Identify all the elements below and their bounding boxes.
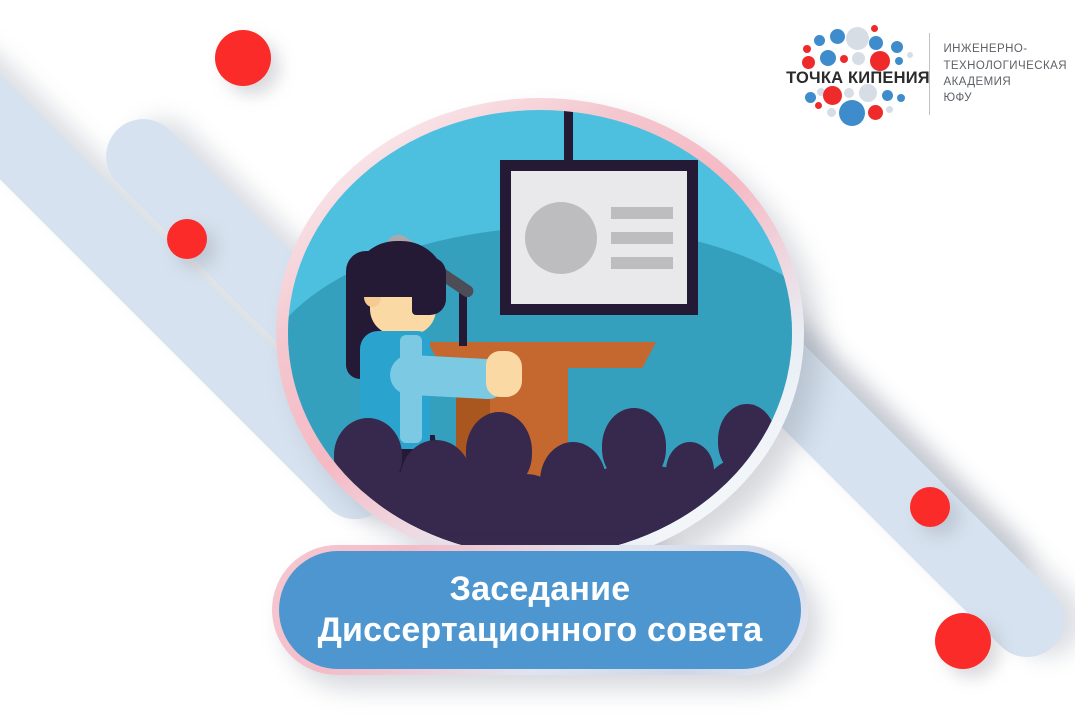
screen-mount-rod: [564, 110, 573, 166]
red-dot: [167, 219, 207, 259]
logo-bubble: [820, 50, 836, 66]
red-dot: [910, 487, 950, 527]
logo-bubble: [871, 25, 878, 32]
logo-org-name: ИНЖЕНЕРНО- ТЕХНОЛОГИЧЕСКАЯ АКАДЕМИЯ ЮФУ: [943, 41, 1067, 106]
logo-bubble: [882, 90, 893, 101]
logo-org-line: ИНЖЕНЕРНО-: [943, 41, 1067, 57]
logo-mark: ТОЧКА КИПЕНИЯ: [783, 22, 923, 126]
page-title: Заседание Диссертационного совета: [292, 569, 789, 652]
logo-bubble: [830, 29, 845, 44]
logo-bubble: [897, 94, 905, 102]
screen-line: [611, 257, 673, 269]
logo-org-line: ЮФУ: [943, 90, 1067, 106]
illustration-scene: [288, 110, 792, 556]
logo-bubble: [907, 52, 913, 58]
screen-placeholder-lines: [611, 207, 673, 269]
brand-logo: ТОЧКА КИПЕНИЯ ИНЖЕНЕРНО- ТЕХНОЛОГИЧЕСКАЯ…: [783, 22, 1067, 126]
red-dot: [935, 613, 991, 669]
logo-bubble: [852, 52, 865, 65]
logo-bubble: [827, 108, 836, 117]
logo-wordmark: ТОЧКА КИПЕНИЯ: [783, 69, 933, 88]
logo-bubble: [803, 45, 811, 53]
screen-line: [611, 207, 673, 219]
logo-bubble: [868, 105, 883, 120]
speaker-hair-side: [412, 257, 446, 315]
logo-bubble: [815, 102, 822, 109]
audience-silhouettes: [288, 398, 792, 556]
title-pill: Заседание Диссертационного совета: [279, 551, 801, 669]
logo-bubble: [886, 106, 893, 113]
logo-bubble: [805, 92, 816, 103]
logo-bubble: [814, 35, 825, 46]
logo-bubble: [823, 86, 842, 105]
logo-bubble: [846, 27, 869, 50]
logo-org-line: АКАДЕМИЯ: [943, 74, 1067, 90]
poster-canvas: Заседание Диссертационного совета ТОЧКА …: [0, 0, 1075, 720]
logo-bubble: [839, 100, 865, 126]
logo-bubble: [895, 57, 903, 65]
logo-bubble: [891, 41, 903, 53]
logo-bubble: [840, 55, 848, 63]
speaker-hand: [486, 351, 522, 397]
logo-bubble: [869, 36, 883, 50]
red-dot: [215, 30, 271, 86]
illustration-circle: [276, 98, 804, 568]
title-line-2: Диссертационного совета: [318, 610, 763, 651]
logo-bubble: [870, 51, 890, 71]
title-line-1: Заседание: [318, 569, 763, 610]
logo-bubble: [844, 88, 854, 98]
logo-bubble: [859, 84, 877, 102]
screen-line: [611, 232, 673, 244]
logo-bubble: [802, 56, 815, 69]
logo-org-line: ТЕХНОЛОГИЧЕСКАЯ: [943, 58, 1067, 74]
